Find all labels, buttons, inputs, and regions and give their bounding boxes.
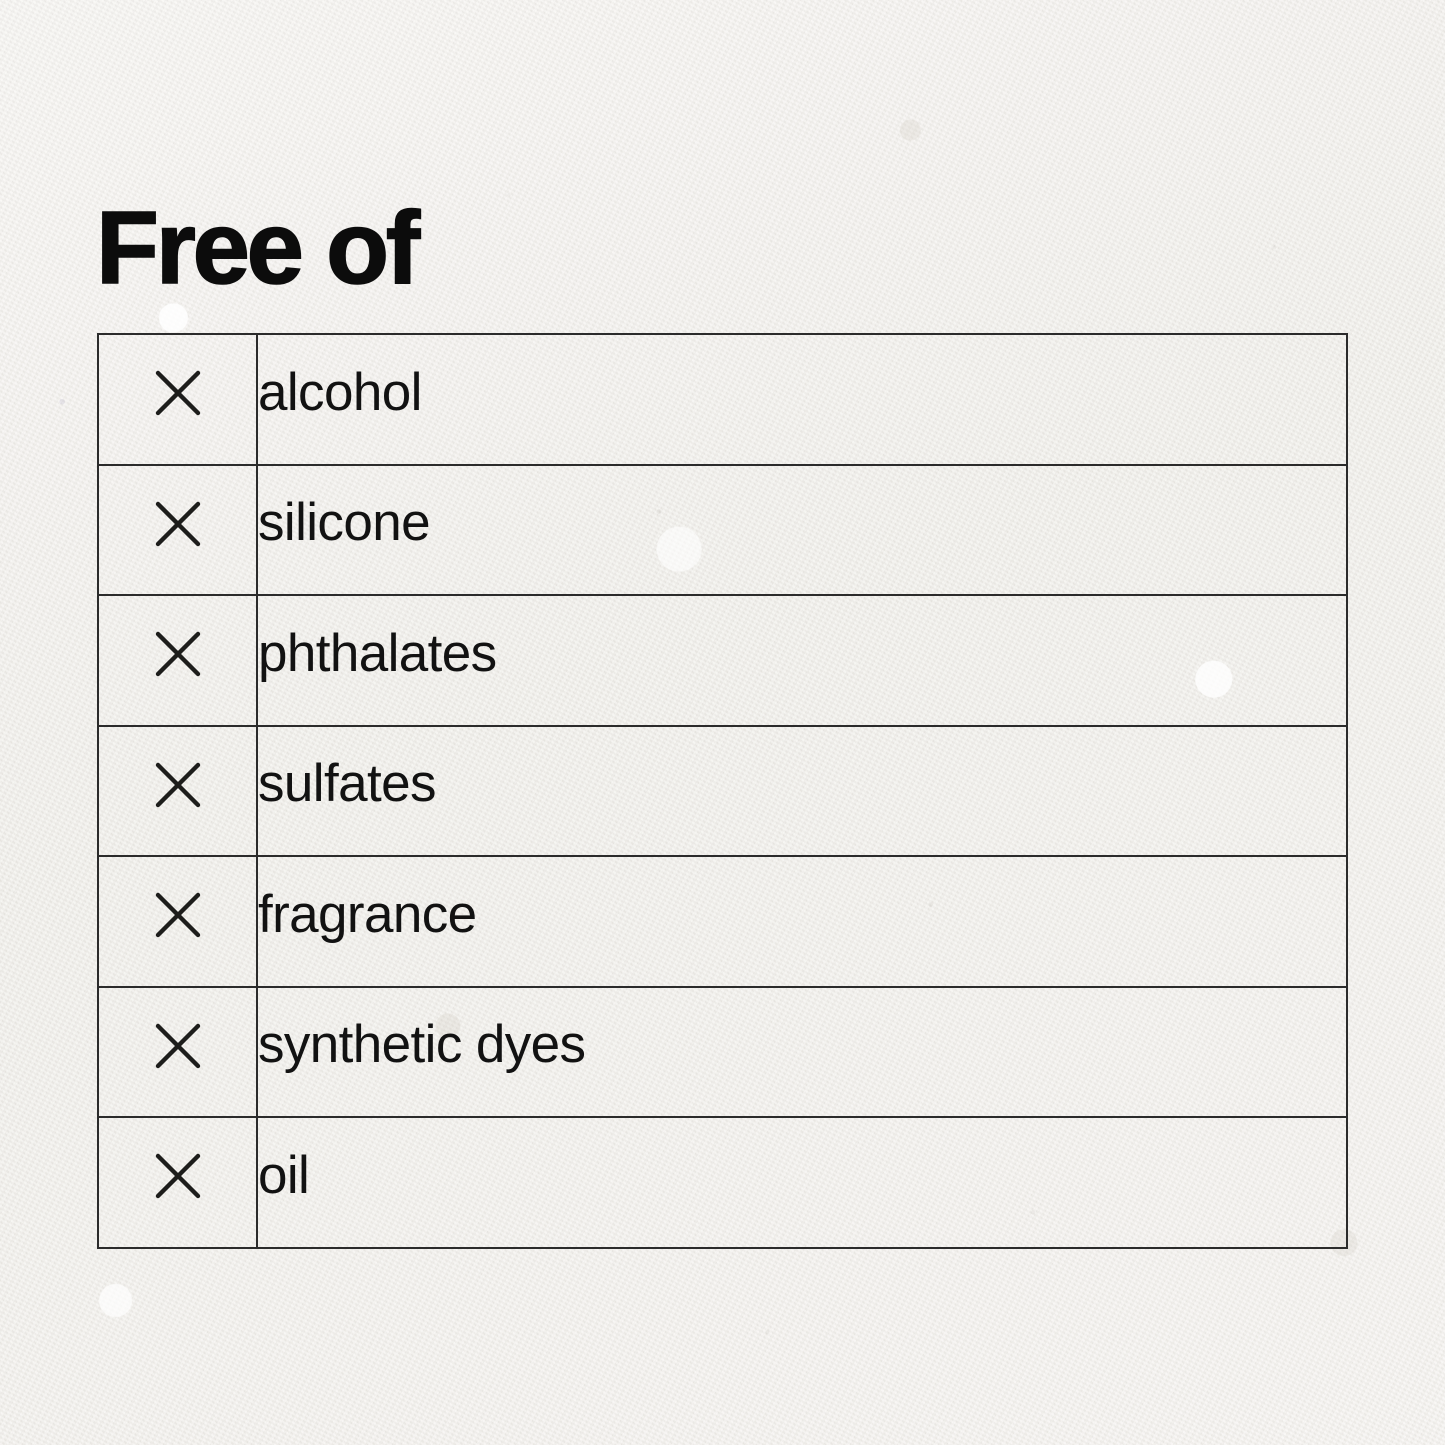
table-cell-mark	[98, 726, 257, 857]
table-cell-mark	[98, 1117, 257, 1248]
x-mark-icon	[154, 369, 202, 417]
ingredient-label: synthetic dyes	[258, 1018, 1346, 1071]
x-mark-icon	[154, 761, 202, 809]
table-row: alcohol	[98, 334, 1347, 465]
ingredient-label: silicone	[258, 496, 1346, 549]
x-mark-icon	[154, 891, 202, 939]
table-cell-label: silicone	[257, 465, 1347, 596]
table-cell-label: synthetic dyes	[257, 987, 1347, 1118]
table-cell-label: phthalates	[257, 595, 1347, 726]
table-cell-mark	[98, 334, 257, 465]
table-cell-label: alcohol	[257, 334, 1347, 465]
table-cell-label: oil	[257, 1117, 1347, 1248]
table-row: synthetic dyes	[98, 987, 1347, 1118]
page-title: Free of	[96, 196, 417, 299]
ingredient-label: fragrance	[258, 888, 1346, 941]
table-cell-mark	[98, 987, 257, 1118]
table-cell-label: fragrance	[257, 856, 1347, 987]
table-cell-mark	[98, 465, 257, 596]
x-mark-icon	[154, 500, 202, 548]
ingredient-claims-card: Free of alcohol	[0, 0, 1445, 1445]
ingredient-label: alcohol	[258, 366, 1346, 419]
ingredient-label: phthalates	[258, 627, 1346, 680]
table-row: oil	[98, 1117, 1347, 1248]
free-of-table: alcohol silicone	[97, 333, 1348, 1249]
x-mark-icon	[154, 1152, 202, 1200]
ingredient-label: sulfates	[258, 757, 1346, 810]
x-mark-icon	[154, 1022, 202, 1070]
free-of-table-body: alcohol silicone	[98, 334, 1347, 1248]
table-row: silicone	[98, 465, 1347, 596]
table-row: fragrance	[98, 856, 1347, 987]
table-row: phthalates	[98, 595, 1347, 726]
table-row: sulfates	[98, 726, 1347, 857]
table-cell-label: sulfates	[257, 726, 1347, 857]
table-cell-mark	[98, 856, 257, 987]
ingredient-label: oil	[258, 1149, 1346, 1202]
x-mark-icon	[154, 630, 202, 678]
table-cell-mark	[98, 595, 257, 726]
